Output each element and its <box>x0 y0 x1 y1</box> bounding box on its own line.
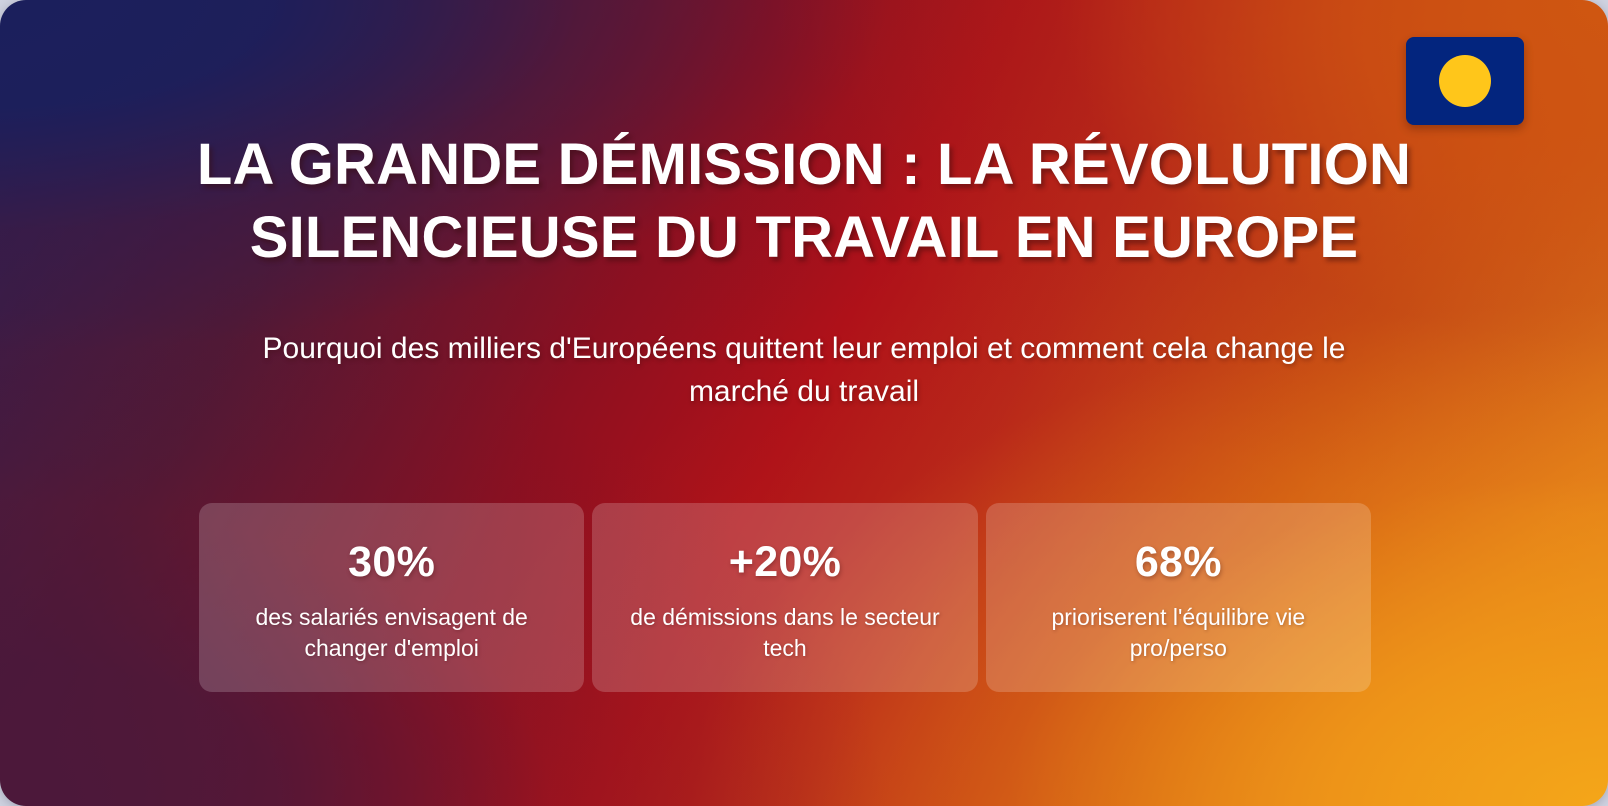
flag-star-icon <box>1439 55 1491 107</box>
page-subtitle: Pourquoi des milliers d'Européens quitte… <box>0 328 1608 413</box>
hero-slide: La Grande Démission : La Révolution Sile… <box>0 0 1608 806</box>
page-title: La Grande Démission : La Révolution Sile… <box>0 128 1608 274</box>
stat-card: 68% prioriserent l'équilibre vie pro/per… <box>986 503 1371 692</box>
stat-value: 30% <box>221 541 562 584</box>
stat-label: prioriserent l'équilibre vie pro/perso <box>1008 602 1349 664</box>
stat-label: de démissions dans le secteur tech <box>614 602 955 664</box>
stat-label: des salariés envisagent de changer d'emp… <box>221 602 562 664</box>
stat-value: +20% <box>614 541 955 584</box>
stats-row: 30% des salariés envisagent de changer d… <box>199 503 1371 692</box>
stat-value: 68% <box>1008 541 1349 584</box>
stat-card: +20% de démissions dans le secteur tech <box>592 503 977 692</box>
stat-card: 30% des salariés envisagent de changer d… <box>199 503 584 692</box>
eu-flag-badge <box>1406 37 1524 125</box>
